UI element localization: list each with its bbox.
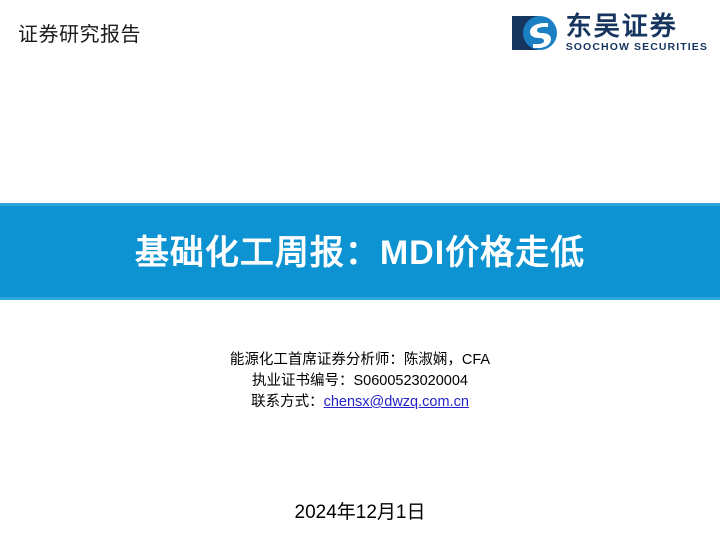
analyst-contact-line: 联系方式：chensx@dwzq.com.cn [0,392,720,413]
page-header: 证券研究报告 东吴证券 SOOCHOW SECURITIES [0,0,720,82]
banner-bottom-edge [0,297,720,300]
company-logo: 东吴证券 SOOCHOW SECURITIES [512,12,708,54]
logo-name-cn: 东吴证券 [566,12,678,40]
date-block: 2024年12月1日 [0,500,720,526]
analyst-role-line: 能源化工首席证券分析师：陈淑娴，CFA [0,350,720,371]
contact-label: 联系方式： [251,394,324,410]
title-banner: 基础化工周报：MDI价格走低 [0,203,720,300]
analyst-license-line: 执业证书编号：S0600523020004 [0,371,720,392]
logo-name-en: SOOCHOW SECURITIES [566,41,708,54]
page-title: 基础化工周报：MDI价格走低 [135,231,585,275]
report-type-label: 证券研究报告 [18,22,141,48]
analyst-email-link[interactable]: chensx@dwzq.com.cn [324,394,469,410]
soochow-swirl-mark-icon [512,12,558,54]
logo-text-group: 东吴证券 SOOCHOW SECURITIES [566,12,708,54]
banner-top-edge [0,203,720,206]
analyst-info-block: 能源化工首席证券分析师：陈淑娴，CFA 执业证书编号：S060052302000… [0,350,720,413]
publication-date: 2024年12月1日 [0,500,720,526]
